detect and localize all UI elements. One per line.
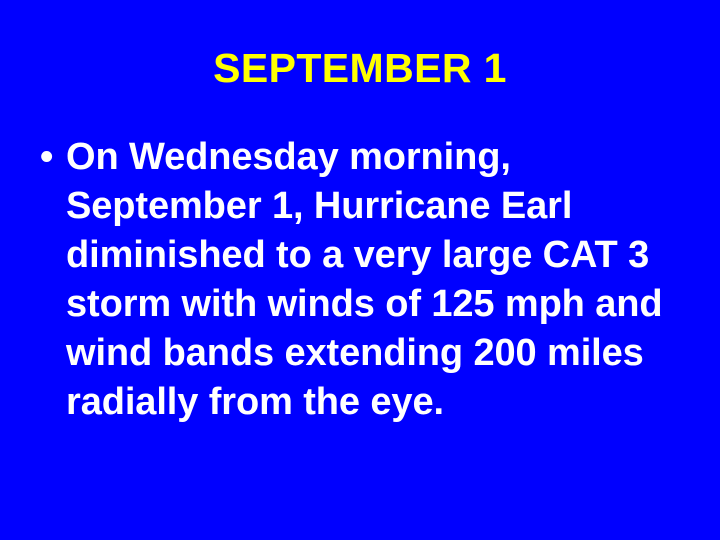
bullet-list-item: • On Wednesday morning, September 1, Hur… [40,133,690,427]
bullet-item-text: On Wednesday morning, September 1, Hurri… [66,133,690,427]
slide-body: • On Wednesday morning, September 1, Hur… [40,133,690,427]
slide-title: SEPTEMBER 1 [0,46,720,90]
bullet-point-icon: • [40,133,66,182]
presentation-slide: SEPTEMBER 1 • On Wednesday morning, Sept… [0,0,720,540]
